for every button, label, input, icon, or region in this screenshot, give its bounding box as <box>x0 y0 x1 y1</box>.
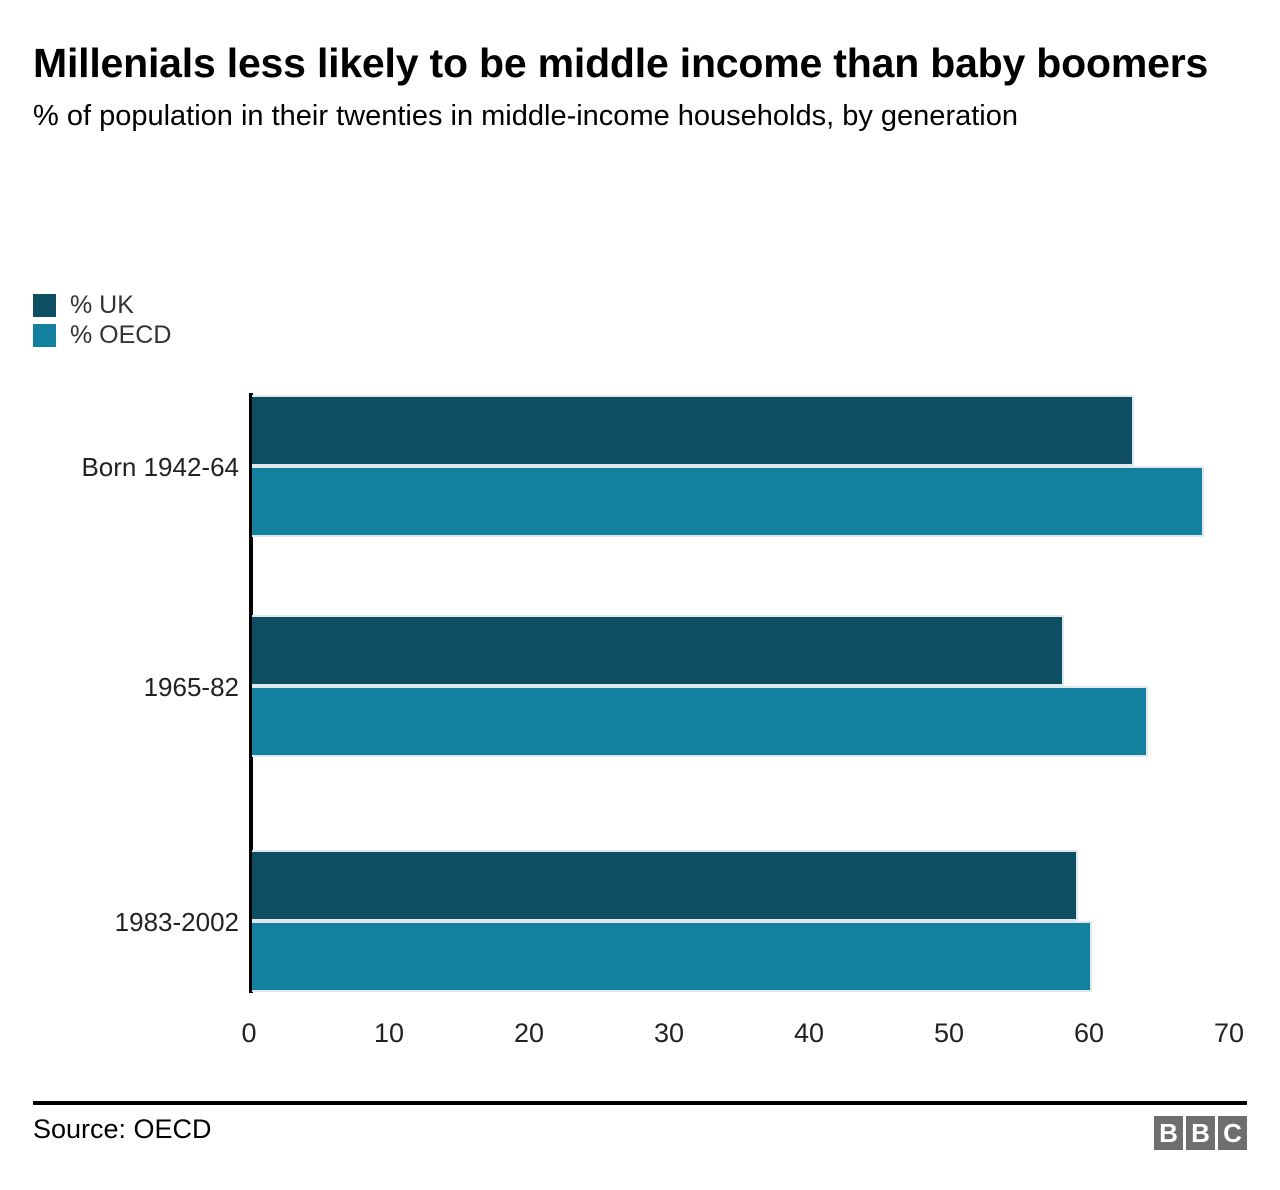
x-tick-label-30: 30 <box>654 1020 684 1047</box>
x-tick-label-70: 70 <box>1214 1020 1244 1047</box>
footer-divider <box>33 1101 1247 1105</box>
category-label-2: 1983-2002 <box>115 909 239 935</box>
x-tick-label-10: 10 <box>374 1020 404 1047</box>
source-note: Source: OECD <box>33 1116 212 1143</box>
category-label-1: 1965-82 <box>144 674 239 700</box>
bar-oecd-2[interactable] <box>252 921 1092 992</box>
bbc-logo-letter-1: B <box>1154 1116 1183 1150</box>
bar-uk-2[interactable] <box>252 850 1078 921</box>
bbc-logo-letter-3: C <box>1218 1116 1247 1150</box>
chart-page: Millenials less likely to be middle inco… <box>0 0 1280 1190</box>
bbc-logo: B B C <box>1154 1116 1247 1150</box>
x-tick-label-20: 20 <box>514 1020 544 1047</box>
plot-area: Born 1942-641965-821983-2002 01020304050… <box>0 0 1280 1190</box>
x-tick-label-40: 40 <box>794 1020 824 1047</box>
x-tick-label-60: 60 <box>1074 1020 1104 1047</box>
bar-uk-1[interactable] <box>252 615 1064 686</box>
bar-oecd-1[interactable] <box>252 686 1148 757</box>
x-tick-label-0: 0 <box>241 1020 256 1047</box>
bar-oecd-0[interactable] <box>252 466 1204 537</box>
x-tick-label-50: 50 <box>934 1020 964 1047</box>
bbc-logo-letter-2: B <box>1186 1116 1215 1150</box>
bar-uk-0[interactable] <box>252 395 1134 466</box>
category-label-0: Born 1942-64 <box>81 454 239 480</box>
